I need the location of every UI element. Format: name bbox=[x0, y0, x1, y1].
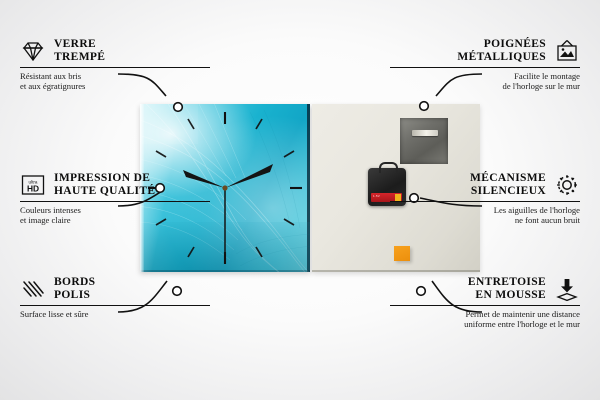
callout-title-line2: SILENCIEUX bbox=[470, 185, 546, 198]
callout-subtitle-line1: Résistant aux bris bbox=[20, 71, 210, 81]
callout-title-line2: MÉTALLIQUES bbox=[457, 51, 546, 64]
foam-spacer-part bbox=[394, 246, 410, 261]
picture-hanger-icon bbox=[554, 38, 580, 64]
diamond-icon bbox=[20, 38, 46, 64]
ultra-hd-icon: ultra HD bbox=[20, 172, 46, 198]
svg-text:HD: HD bbox=[27, 183, 39, 193]
callout-subtitle-line2: uniforme entre l'horloge et le mur bbox=[390, 319, 580, 329]
callout-title-line2: POLIS bbox=[54, 289, 95, 302]
callout-subtitle-line1: Les aiguilles de l'horloge bbox=[390, 205, 580, 215]
callout-bords-polis: BORDS POLIS Surface lisse et sûre bbox=[20, 276, 210, 319]
callout-divider bbox=[390, 201, 580, 202]
callout-divider bbox=[20, 305, 210, 306]
battery-label: 1.5V bbox=[373, 194, 380, 198]
callout-title-line2: EN MOUSSE bbox=[468, 289, 546, 302]
callout-subtitle-line1: Permet de maintenir une distance bbox=[390, 309, 580, 319]
callout-subtitle-line1: Couleurs intenses bbox=[20, 205, 210, 215]
callout-divider bbox=[20, 67, 210, 68]
callout-divider bbox=[390, 305, 580, 306]
callout-poignees-metalliques: POIGNÉES MÉTALLIQUES Facilite le montage… bbox=[390, 38, 580, 92]
callout-title-line1: IMPRESSION DE bbox=[54, 172, 155, 185]
callout-subtitle-line2: et aux égratignures bbox=[20, 81, 210, 91]
callout-title-line1: MÉCANISME bbox=[470, 172, 546, 185]
callout-subtitle-line1: Surface lisse et sûre bbox=[20, 309, 210, 319]
hanger-slot bbox=[412, 130, 438, 136]
callout-mecanisme-silencieux: MÉCANISME SILENCIEUX Les aiguilles de l'… bbox=[390, 172, 580, 226]
callout-divider bbox=[20, 201, 210, 202]
polished-edges-icon bbox=[20, 276, 46, 302]
callout-divider bbox=[390, 67, 580, 68]
gear-icon bbox=[554, 172, 580, 198]
callout-title-line1: ENTRETOISE bbox=[468, 276, 546, 289]
infographic-canvas: 1.5V bbox=[0, 0, 600, 400]
callout-title-line2: HAUTE QUALITÉ bbox=[54, 185, 155, 198]
callout-title-line1: VERRE bbox=[54, 38, 105, 51]
callout-subtitle-line1: Facilite le montage bbox=[390, 71, 580, 81]
callout-subtitle-line2: ne font aucun bruit bbox=[390, 215, 580, 225]
spacer-arrow-icon bbox=[554, 276, 580, 302]
callout-entretoise-en-mousse: ENTRETOISE EN MOUSSE Permet de maintenir… bbox=[390, 276, 580, 330]
callout-verre-trempe: VERRE TREMPÉ Résistant aux bris et aux é… bbox=[20, 38, 210, 92]
callout-subtitle-line2: et image claire bbox=[20, 215, 210, 225]
callout-title-line1: BORDS bbox=[54, 276, 95, 289]
callout-title-line2: TREMPÉ bbox=[54, 51, 105, 64]
metal-hanger-plate bbox=[400, 118, 448, 164]
callout-impression-haute-qualite: ultra HD IMPRESSION DE HAUTE QUALITÉ Cou… bbox=[20, 172, 210, 226]
callout-subtitle-line2: de l'horloge sur le mur bbox=[390, 81, 580, 91]
callout-title-line1: POIGNÉES bbox=[457, 38, 546, 51]
